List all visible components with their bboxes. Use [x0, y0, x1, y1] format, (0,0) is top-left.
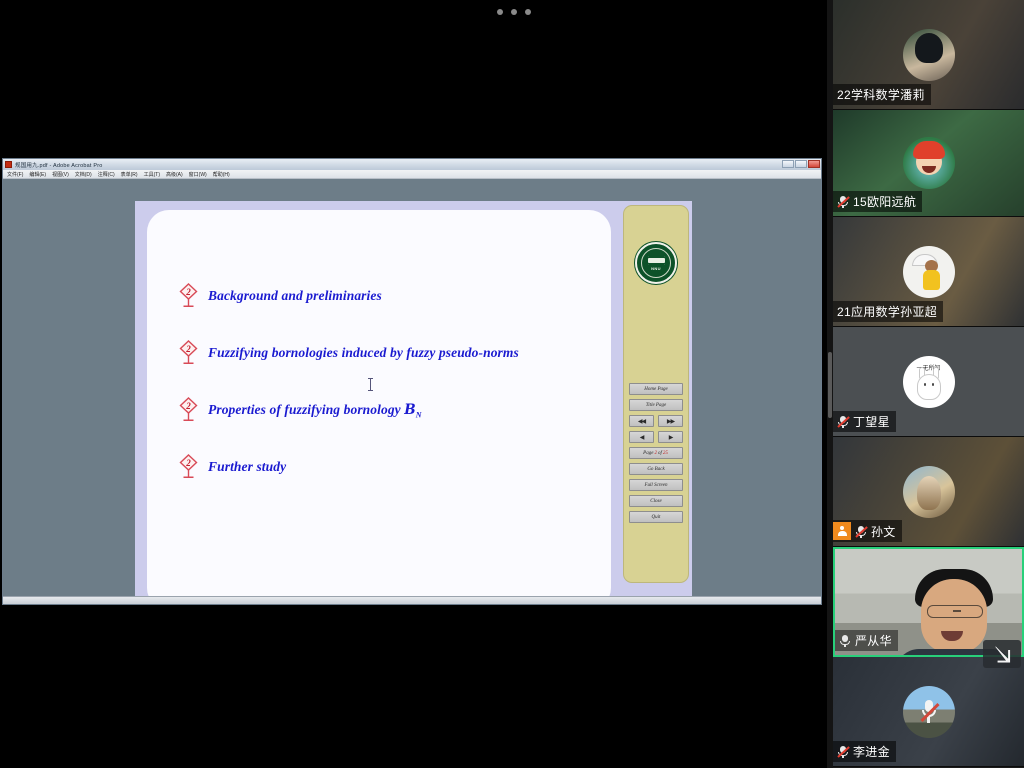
avatar	[903, 246, 955, 298]
slide-bullet-list: 2 Background and preliminaries	[179, 286, 601, 514]
math-symbol-B: B	[404, 402, 416, 418]
quit-button[interactable]: Quit	[629, 511, 683, 523]
avatar	[903, 466, 955, 518]
participant-nameplate: 严从华	[835, 630, 898, 651]
avatar	[903, 29, 955, 81]
menu-edit[interactable]: 编辑(E)	[29, 171, 46, 178]
mic-muted-icon	[837, 745, 849, 758]
participant-name: 严从华	[855, 632, 892, 649]
document-viewport[interactable]: 2 Background and preliminaries	[3, 179, 821, 604]
bullet-label-text: Properties of fuzzifying bornology	[208, 402, 404, 417]
participant-name: 孙文	[871, 523, 896, 540]
acrobat-app-icon	[5, 161, 12, 168]
menu-advanced[interactable]: 高级(A)	[166, 171, 183, 178]
pdf-navigation-panel: NNU Home Page Title Page ◀◀ ▶▶ ◀	[623, 205, 689, 583]
svg-text:2: 2	[185, 458, 191, 468]
first-page-button[interactable]: ◀◀	[629, 415, 654, 427]
page-prefix: Page	[643, 451, 653, 456]
mic-muted-icon	[837, 195, 849, 208]
home-page-button[interactable]: Home Page	[629, 383, 683, 395]
svg-text:2: 2	[185, 344, 191, 354]
participant-name: 李进金	[853, 743, 890, 760]
logo-text: NNU	[651, 266, 661, 271]
next-page-button[interactable]: ▶	[658, 431, 683, 443]
list-item: 2 Fuzzifying bornologies induced by fuzz…	[179, 343, 601, 366]
participant-tile[interactable]: 21应用数学孙亚超	[833, 217, 1024, 327]
full-screen-button[interactable]: Full Screen	[629, 479, 683, 491]
acrobat-statusbar	[3, 596, 821, 604]
window-controls	[782, 160, 820, 168]
maximize-button[interactable]	[795, 160, 807, 168]
page-current: 2	[654, 451, 657, 456]
participant-tile[interactable]: 李进金	[833, 657, 1024, 767]
list-item: 2 Further study	[179, 457, 601, 480]
last-page-button[interactable]: ▶▶	[658, 415, 683, 427]
participant-name: 15欧阳远航	[853, 193, 916, 210]
menu-tools[interactable]: 工具(T)	[144, 171, 160, 178]
math-subscript-N: N	[416, 411, 422, 420]
glasses-icon	[927, 605, 983, 618]
text-cursor-icon	[368, 378, 373, 391]
window-close-button[interactable]	[808, 160, 820, 168]
list-item: 2 Background and preliminaries	[179, 286, 601, 309]
page-indicator[interactable]: Page 2 of 25	[629, 447, 683, 459]
participant-name: 22学科数学潘莉	[837, 86, 925, 103]
menu-forms[interactable]: 表单(R)	[121, 171, 138, 178]
acrobat-titlebar[interactable]: 规国用九.pdf - Adobe Acrobat Pro	[3, 159, 821, 170]
collapse-panel-button[interactable]	[983, 640, 1021, 668]
minimize-button[interactable]	[782, 160, 794, 168]
participant-nameplate: 孙文	[833, 520, 902, 542]
mic-active-icon	[839, 634, 851, 647]
road-sign-2-icon: 2	[179, 397, 198, 423]
list-item: 2 Properties of fuzzifying bornology BN	[179, 400, 601, 423]
menu-help[interactable]: 帮助(H)	[213, 171, 230, 178]
menu-comments[interactable]: 注释(C)	[98, 171, 115, 178]
page-total: 25	[663, 451, 668, 456]
menu-window[interactable]: 窗口(W)	[189, 171, 207, 178]
participant-tile[interactable]: 22学科数学潘莉	[833, 0, 1024, 110]
host-badge-icon	[833, 522, 851, 540]
participant-video-strip: 22学科数学潘莉 15欧阳远航 21应用数学孙亚超	[833, 0, 1024, 768]
scrollbar-thumb[interactable]	[828, 352, 832, 418]
logo-building-icon	[648, 256, 665, 265]
title-page-button[interactable]: Title Page	[629, 399, 683, 411]
road-sign-2-icon: 2	[179, 454, 198, 480]
avatar: 一无所知	[903, 356, 955, 408]
slide-content-card: 2 Background and preliminaries	[147, 210, 611, 604]
participant-tile[interactable]: 一无所知 丁望星	[833, 327, 1024, 437]
screen-share-handle-dots[interactable]	[497, 6, 531, 18]
participant-tile[interactable]: 孙文	[833, 437, 1024, 547]
avatar	[903, 686, 955, 738]
handle-dot-2	[511, 9, 517, 15]
page-middle: of	[658, 451, 662, 456]
acrobat-menubar: 文件(F) 编辑(E) 视图(V) 文档(D) 注释(C) 表单(R) 工具(T…	[3, 170, 821, 179]
avatar	[903, 137, 955, 189]
bullet-label: Further study	[208, 457, 286, 475]
logo-inner: NNU	[641, 248, 671, 278]
window-title: 规国用九.pdf - Adobe Acrobat Pro	[15, 161, 103, 169]
participant-tile[interactable]: 15欧阳远航	[833, 110, 1024, 217]
road-sign-2-icon: 2	[179, 340, 198, 366]
university-logo-nnu: NNU	[635, 242, 677, 284]
menu-file[interactable]: 文件(F)	[7, 171, 23, 178]
bullet-label: Background and preliminaries	[208, 286, 382, 304]
participant-nameplate: 22学科数学潘莉	[833, 84, 931, 105]
svg-text:2: 2	[185, 287, 191, 297]
prev-page-button[interactable]: ◀	[629, 431, 654, 443]
mic-muted-icon	[855, 525, 867, 538]
acrobat-window: 规国用九.pdf - Adobe Acrobat Pro 文件(F) 编辑(E)…	[2, 158, 822, 605]
handle-dot-3	[525, 9, 531, 15]
participant-nameplate: 李进金	[833, 741, 896, 762]
bullet-label-with-math: Properties of fuzzifying bornology BN	[208, 400, 422, 420]
svg-text:2: 2	[185, 401, 191, 411]
screen-root: 规国用九.pdf - Adobe Acrobat Pro 文件(F) 编辑(E)…	[0, 0, 1024, 768]
participant-nameplate: 丁望星	[833, 411, 896, 432]
nav-button-group: Home Page Title Page ◀◀ ▶▶ ◀ ▶	[629, 383, 683, 527]
close-button[interactable]: Close	[629, 495, 683, 507]
menu-view[interactable]: 视图(V)	[52, 171, 69, 178]
mic-muted-icon	[837, 415, 849, 428]
shared-screen-region: 规国用九.pdf - Adobe Acrobat Pro 文件(F) 编辑(E)…	[0, 0, 833, 768]
participant-name: 丁望星	[853, 413, 890, 430]
menu-document[interactable]: 文档(D)	[75, 171, 92, 178]
road-sign-2-icon: 2	[179, 283, 198, 309]
pdf-page: 2 Background and preliminaries	[135, 201, 692, 604]
handle-dot-1	[497, 9, 503, 15]
bullet-label: Fuzzifying bornologies induced by fuzzy …	[208, 343, 519, 361]
arrow-collapse-icon	[991, 643, 1013, 665]
go-back-button[interactable]: Go Back	[629, 463, 683, 475]
participant-nameplate: 15欧阳远航	[833, 191, 922, 212]
nav-arrow-row-first-last: ◀◀ ▶▶	[629, 415, 683, 427]
participant-name: 21应用数学孙亚超	[837, 303, 937, 320]
avatar-caption: 一无所知	[903, 363, 955, 372]
participant-nameplate: 21应用数学孙亚超	[833, 301, 943, 322]
nav-arrow-row-prev-next: ◀ ▶	[629, 431, 683, 443]
